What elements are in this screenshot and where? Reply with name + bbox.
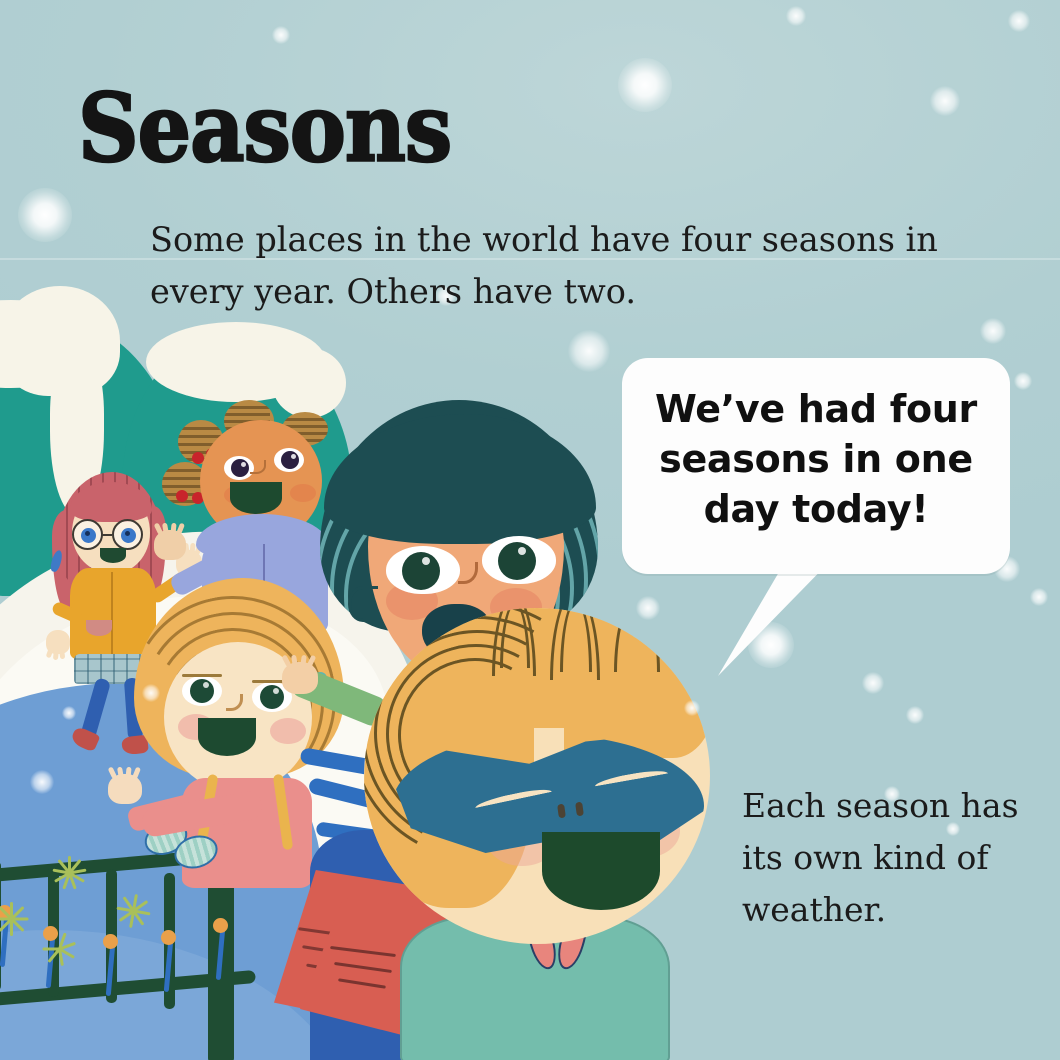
snowflake — [62, 706, 76, 720]
snowflake — [684, 700, 700, 716]
speech-bubble-text: We’ve had four seasons in one day today! — [640, 384, 992, 534]
eye-left — [386, 546, 460, 594]
hand-raised-left — [154, 530, 186, 560]
snowflake — [1008, 10, 1030, 32]
snowflake — [142, 684, 160, 702]
snowflake — [930, 86, 960, 116]
character-masked-hero-child — [352, 598, 752, 1060]
snowflake — [1014, 372, 1032, 390]
snowflake — [862, 672, 884, 694]
grass-burst — [110, 890, 158, 938]
intro-paragraph: Some places in the world have four seaso… — [150, 214, 980, 318]
eye-right — [482, 536, 556, 584]
picture-book-page: Seasons Some places in the world have fo… — [0, 0, 1060, 1060]
mouth — [230, 482, 282, 514]
hair-berry — [176, 490, 188, 502]
snowflake — [1030, 588, 1048, 606]
coat-pocket — [86, 620, 112, 636]
snowflake — [636, 596, 660, 620]
mouth-smiling — [542, 832, 660, 910]
hand-out-left — [108, 774, 142, 804]
mouth — [100, 548, 126, 563]
grass-burst — [0, 898, 36, 946]
eyeglass-right — [112, 519, 143, 550]
snowflake — [30, 770, 54, 794]
eyeglass-left — [72, 519, 103, 550]
page-title: Seasons — [78, 72, 451, 183]
side-caption: Each season has its own kind of weather. — [742, 780, 1032, 936]
snowflake — [980, 318, 1006, 344]
speech-bubble: We’ve had four seasons in one day today! — [622, 358, 1010, 574]
snowflake — [618, 58, 672, 112]
head — [364, 608, 710, 944]
snowflake — [272, 26, 290, 44]
hand-green-sleeve — [282, 662, 318, 694]
snowflake — [18, 188, 72, 242]
grass-burst — [46, 852, 94, 900]
eyelid — [182, 674, 222, 677]
grass-burst — [36, 928, 84, 976]
snowflake — [786, 6, 806, 26]
eye-left — [182, 676, 222, 706]
eyeglass-bridge — [102, 534, 112, 536]
hand-left — [46, 630, 70, 654]
mouth — [198, 718, 256, 756]
snowflake — [568, 330, 610, 372]
snowflake — [906, 706, 924, 724]
hair-fringe — [324, 414, 596, 544]
